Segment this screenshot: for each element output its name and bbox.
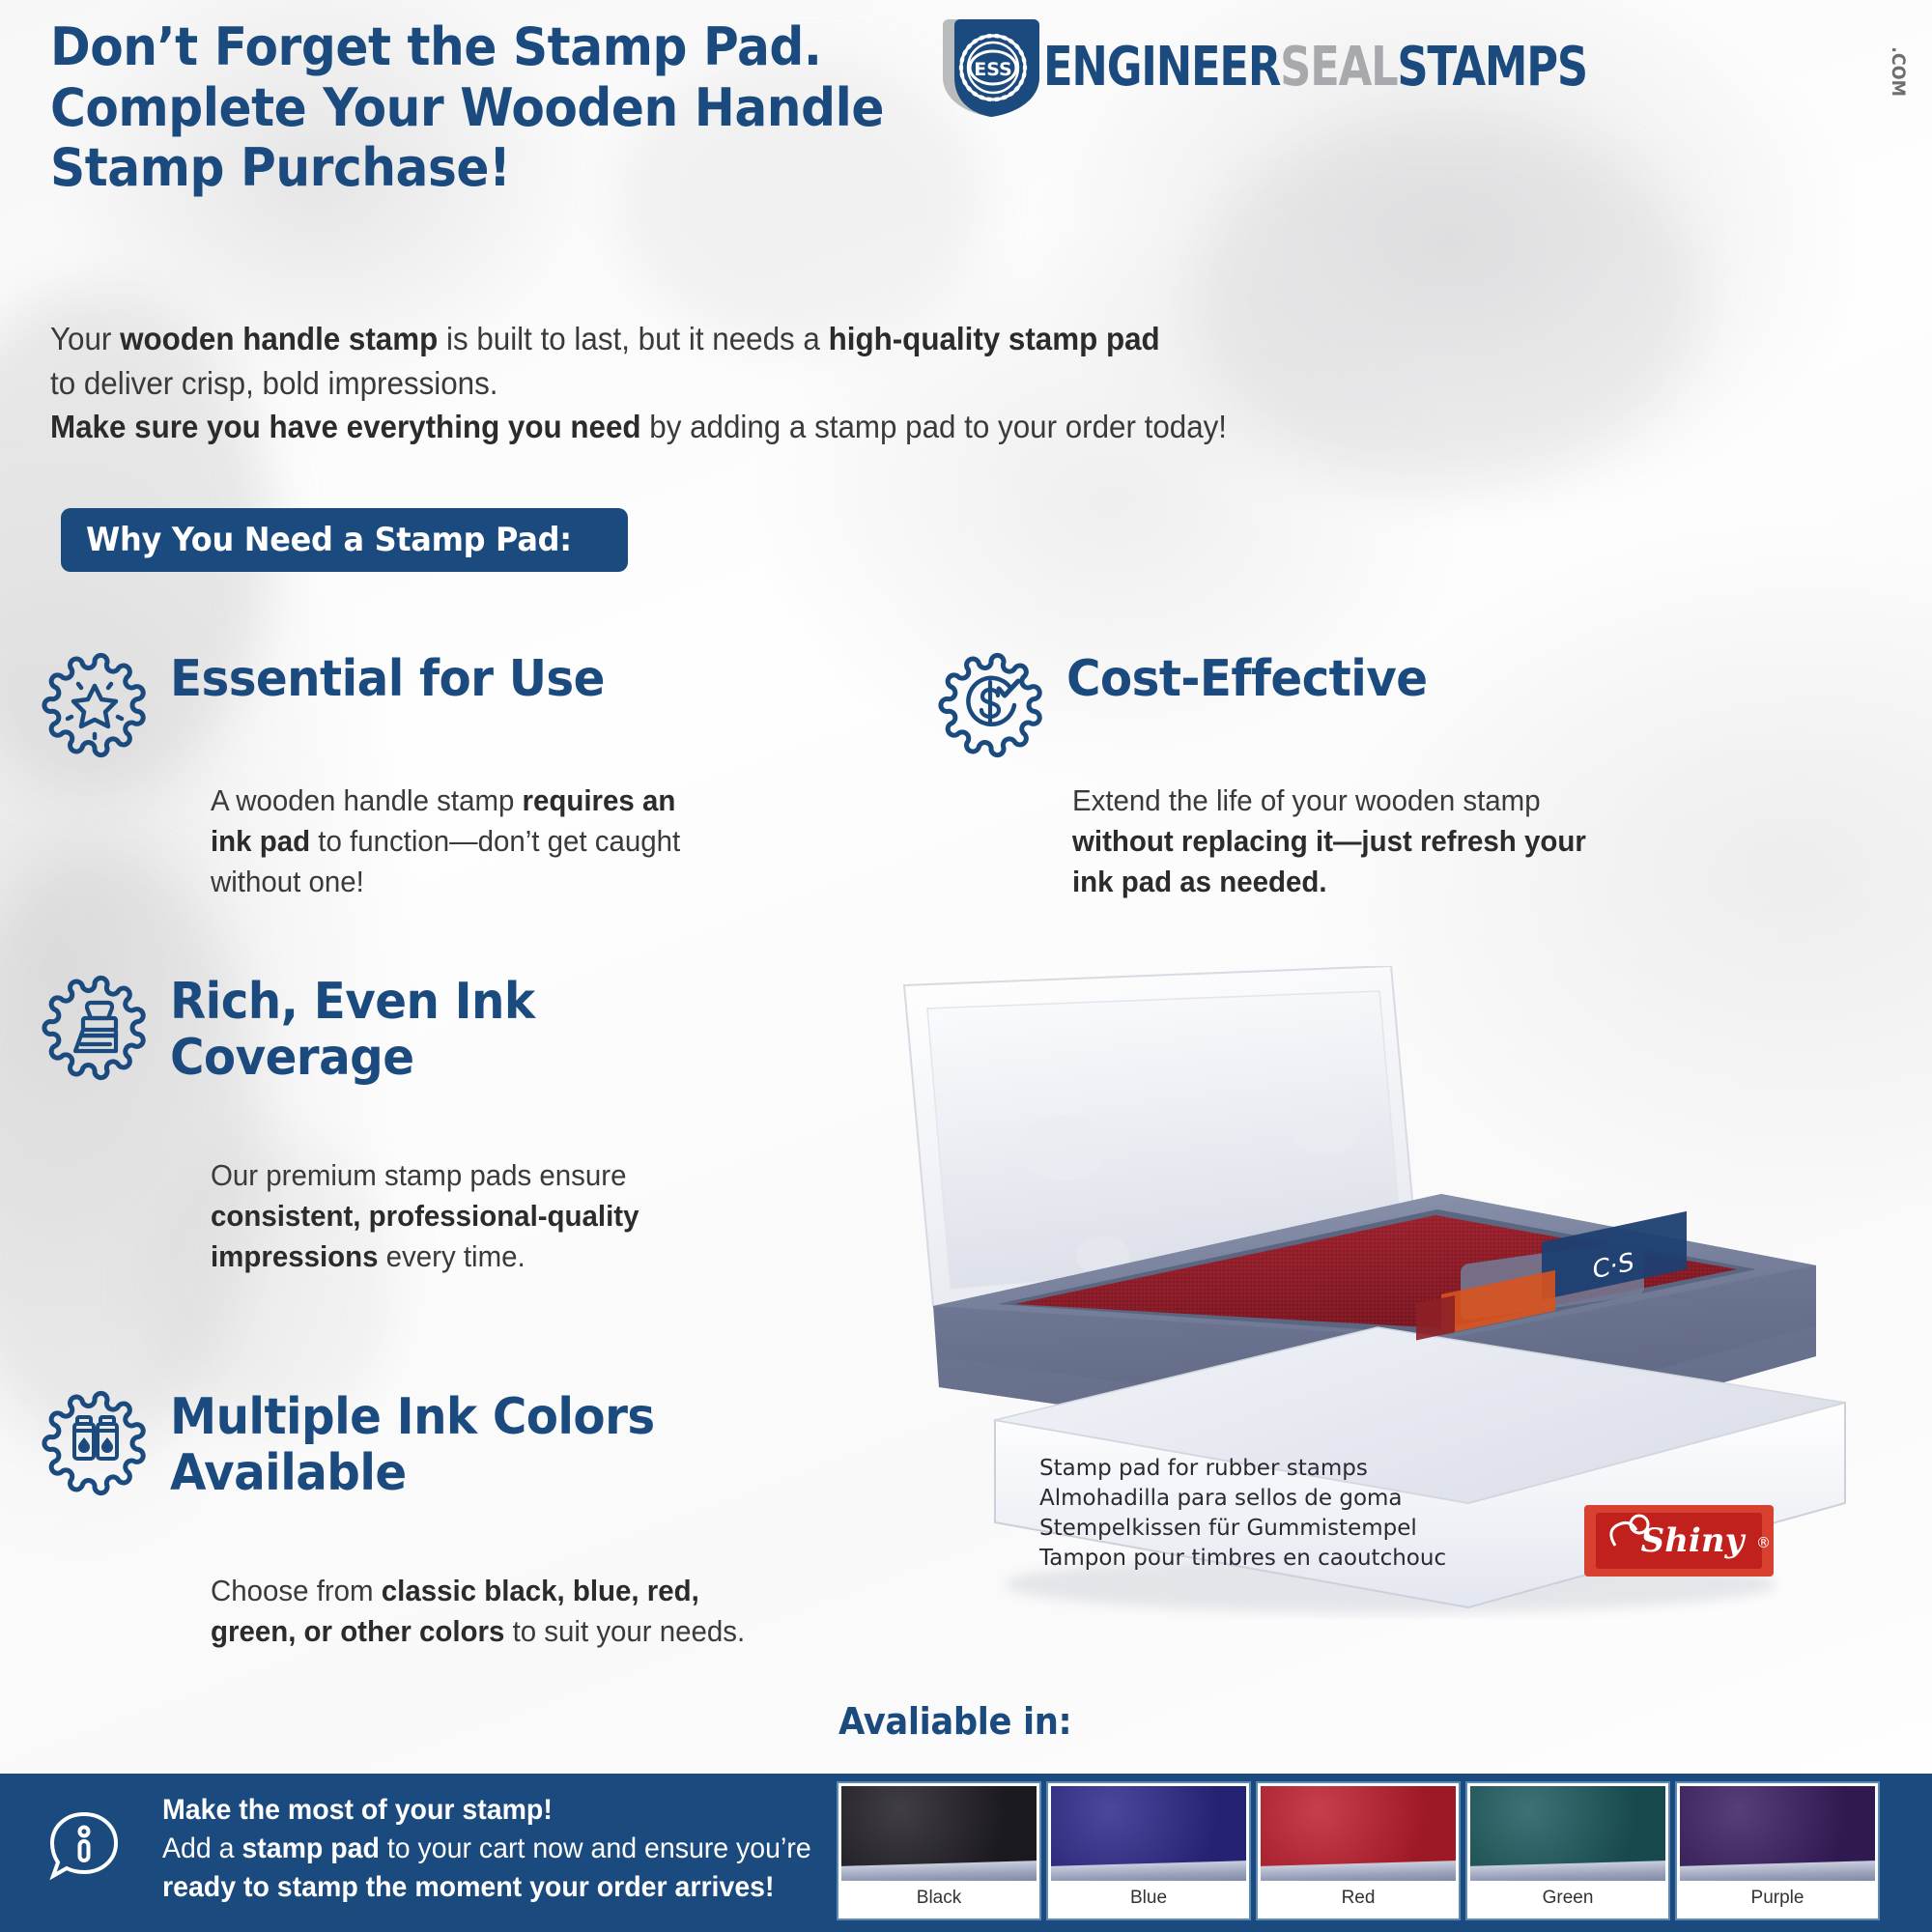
available-in-label: Avaliable in: [838, 1700, 1071, 1743]
feature-body-line: without one! [211, 862, 680, 902]
color-swatch-green[interactable]: Green [1467, 1783, 1668, 1918]
feature-title-line: Multiple Ink Colors [170, 1389, 655, 1445]
swatch-color-area [1470, 1786, 1665, 1881]
body-emphasis: green, or other colors [211, 1614, 504, 1648]
feature-body-line: Extend the life of your wooden stamp [1072, 781, 1586, 821]
cta-line-3: ready to stamp the moment your order arr… [162, 1868, 805, 1907]
feature-body-line: A wooden handle stamp requires an [211, 781, 680, 821]
badge-dollar-check-icon [935, 649, 1047, 761]
headline-line-3: Stamp Purchase! [50, 138, 1110, 199]
swatch-color-area [1261, 1786, 1456, 1881]
feature-body-line: impressions every time. [211, 1236, 639, 1277]
feature-body-line: Choose from classic black, blue, red, [211, 1571, 745, 1611]
feature-body: Choose from classic black, blue, red, gr… [211, 1571, 745, 1652]
intro-text: by adding a stamp pad to your order toda… [641, 409, 1227, 444]
body-text: A wooden handle stamp [211, 783, 523, 817]
logo-word-seal: SEAL [1280, 36, 1397, 99]
body-text: every time. [378, 1239, 525, 1273]
badge-ink-bottles-icon [39, 1387, 151, 1499]
shiny-wordmark: Shiny [1641, 1521, 1747, 1560]
svg-text:ESS: ESS [974, 59, 1012, 80]
swatch-label: Red [1261, 1881, 1456, 1916]
intro-text: Your [50, 321, 120, 356]
cta-emphasis: stamp pad [241, 1833, 380, 1864]
body-emphasis: ink pad as needed. [1072, 865, 1327, 898]
intro-emphasis: Make sure you have everything you need [50, 409, 641, 444]
body-emphasis: impressions [211, 1239, 378, 1273]
cta-line-2: Add a stamp pad to your cart now and ens… [162, 1830, 805, 1868]
feature-title-line: Coverage [170, 1030, 535, 1086]
ess-shield-icon: ESS [935, 17, 1047, 118]
feature-body-line: without replacing it—just refresh your [1072, 821, 1586, 862]
brand-logo[interactable]: ESS ENGINEERSEALSTAMPS .COM [935, 17, 1911, 118]
box-line-3: Stempelkissen für Gummistempel [1039, 1516, 1417, 1541]
cta-line-1: Make the most of your stamp! [162, 1791, 805, 1830]
cta-heading: Make the most of your stamp! [162, 1794, 553, 1826]
feature-title-line: Essential for Use [170, 651, 605, 707]
feature-title: Cost-Effective [1066, 651, 1427, 707]
body-text: Choose from [211, 1574, 382, 1607]
cta-text-run: Add a [162, 1833, 241, 1864]
feature-body-line: green, or other colors to suit your need… [211, 1611, 745, 1652]
cta-bar: Make the most of your stamp! Add a stamp… [0, 1774, 1932, 1932]
feature-title-line: Cost-Effective [1066, 651, 1427, 707]
intro-line-1: Your wooden handle stamp is built to las… [50, 317, 1353, 361]
feature-body: Extend the life of your wooden stamp wit… [1072, 781, 1586, 902]
color-swatch-blue[interactable]: Blue [1048, 1783, 1249, 1918]
box-line-1: Stamp pad for rubber stamps [1039, 1456, 1368, 1481]
intro-paragraph: Your wooden handle stamp is built to las… [50, 317, 1353, 449]
feature-body-line: consistent, professional-quality [211, 1196, 639, 1236]
logo-word-stamps: STAMPS [1397, 36, 1587, 99]
body-text: to function—don’t get caught [310, 824, 680, 858]
cta-text-run: to your cart now and ensure you’re [380, 1833, 811, 1864]
feature-title-line: Available [170, 1445, 655, 1501]
body-emphasis: ink pad [211, 824, 310, 858]
badge-star-icon [39, 649, 151, 761]
section-banner-label: Why You Need a Stamp Pad: [86, 521, 572, 559]
body-emphasis: without replacing it—just refresh your [1072, 824, 1586, 858]
feature-title-line: Rich, Even Ink [170, 974, 535, 1030]
logo-word-engineer: ENGINEER [1043, 36, 1280, 99]
body-text: to suit your needs. [504, 1614, 745, 1648]
info-bubble-icon [43, 1806, 126, 1889]
section-banner: Why You Need a Stamp Pad: [61, 508, 628, 572]
swatch-label: Black [841, 1881, 1037, 1916]
body-emphasis: consistent, professional-quality [211, 1199, 639, 1233]
feature-body-line: ink pad as needed. [1072, 862, 1586, 902]
intro-emphasis: wooden handle stamp [120, 321, 438, 356]
swatch-color-area [1680, 1786, 1875, 1881]
cta-text: Make the most of your stamp! Add a stamp… [162, 1791, 805, 1907]
intro-line-2: to deliver crisp, bold impressions. [50, 361, 1353, 406]
feature-title: Rich, Even Ink Coverage [170, 974, 535, 1086]
swatch-label: Purple [1680, 1881, 1875, 1916]
color-swatch-red[interactable]: Red [1258, 1783, 1459, 1918]
intro-emphasis: high-quality stamp pad [829, 321, 1160, 356]
swatch-label: Blue [1051, 1881, 1246, 1916]
feature-body: Our premium stamp pads ensure consistent… [211, 1155, 639, 1277]
feature-title: Multiple Ink Colors Available [170, 1389, 655, 1501]
intro-line-3: Make sure you have everything you need b… [50, 405, 1353, 449]
color-swatch-black[interactable]: Black [838, 1783, 1039, 1918]
swatch-color-area [841, 1786, 1037, 1881]
badge-stamp-icon [39, 972, 151, 1084]
stamp-pad-product-image: C·S Stamp pad for rubber stamps Almohadi… [850, 966, 1884, 1642]
infographic-page: Don’t Forget the Stamp Pad. Complete You… [0, 0, 1932, 1932]
logo-wordmark: ENGINEERSEALSTAMPS [1043, 41, 1587, 95]
feature-body: A wooden handle stamp requires an ink pa… [211, 781, 680, 902]
body-emphasis: classic black, blue, red, [382, 1574, 699, 1607]
swatch-color-area [1051, 1786, 1246, 1881]
feature-body-line: Our premium stamp pads ensure [211, 1155, 639, 1196]
background-texture-blob [0, 850, 261, 1449]
swatch-label: Green [1470, 1881, 1665, 1916]
cta-emphasis: ready to stamp the moment your order arr… [162, 1871, 775, 1903]
box-line-2: Almohadilla para sellos de goma [1039, 1486, 1403, 1511]
shiny-brand-badge: Shiny ® [1584, 1505, 1774, 1577]
box-line-4: Tampon pour timbres en caoutchouc [1038, 1546, 1446, 1571]
body-emphasis: requires an [523, 783, 676, 817]
logo-tld: .COM [1888, 46, 1909, 97]
color-swatch-purple[interactable]: Purple [1677, 1783, 1878, 1918]
feature-body-line: ink pad to function—don’t get caught [211, 821, 680, 862]
color-swatch-row: BlackBlueRedGreenPurple [838, 1783, 1878, 1918]
intro-text: is built to last, but it needs a [438, 321, 828, 356]
registered-mark: ® [1756, 1534, 1771, 1551]
feature-title: Essential for Use [170, 651, 605, 707]
